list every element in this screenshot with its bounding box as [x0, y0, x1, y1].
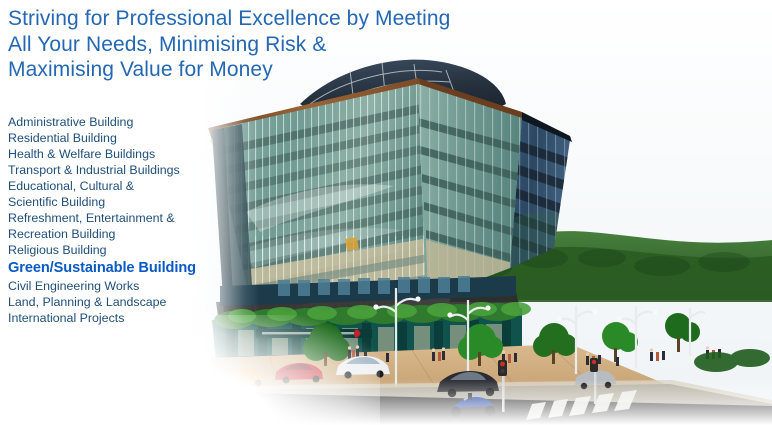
service-item: Transport & Industrial Buildings — [8, 162, 238, 178]
service-item-highlighted: Green/Sustainable Building — [8, 258, 238, 278]
service-item: International Projects — [8, 310, 238, 326]
headline-line-1: Striving for Professional Excellence by … — [8, 6, 548, 32]
headline: Striving for Professional Excellence by … — [8, 6, 548, 83]
service-item: Civil Engineering Works — [8, 278, 238, 294]
headline-line-2: All Your Needs, Minimising Risk & — [8, 32, 548, 58]
service-item: Land, Planning & Landscape — [8, 294, 238, 310]
service-item: Scientific Building — [8, 194, 238, 210]
service-item: Educational, Cultural & — [8, 178, 238, 194]
service-item: Religious Building — [8, 242, 238, 258]
service-item: Refreshment, Entertainment & — [8, 210, 238, 226]
service-item: Recreation Building — [8, 226, 238, 242]
promo-banner: Striving for Professional Excellence by … — [0, 0, 772, 425]
headline-line-3: Maximising Value for Money — [8, 57, 548, 83]
service-item: Residential Building — [8, 130, 238, 146]
service-item: Administrative Building — [8, 114, 238, 130]
services-list: Administrative BuildingResidential Build… — [8, 114, 238, 326]
service-item: Health & Welfare Buildings — [8, 146, 238, 162]
